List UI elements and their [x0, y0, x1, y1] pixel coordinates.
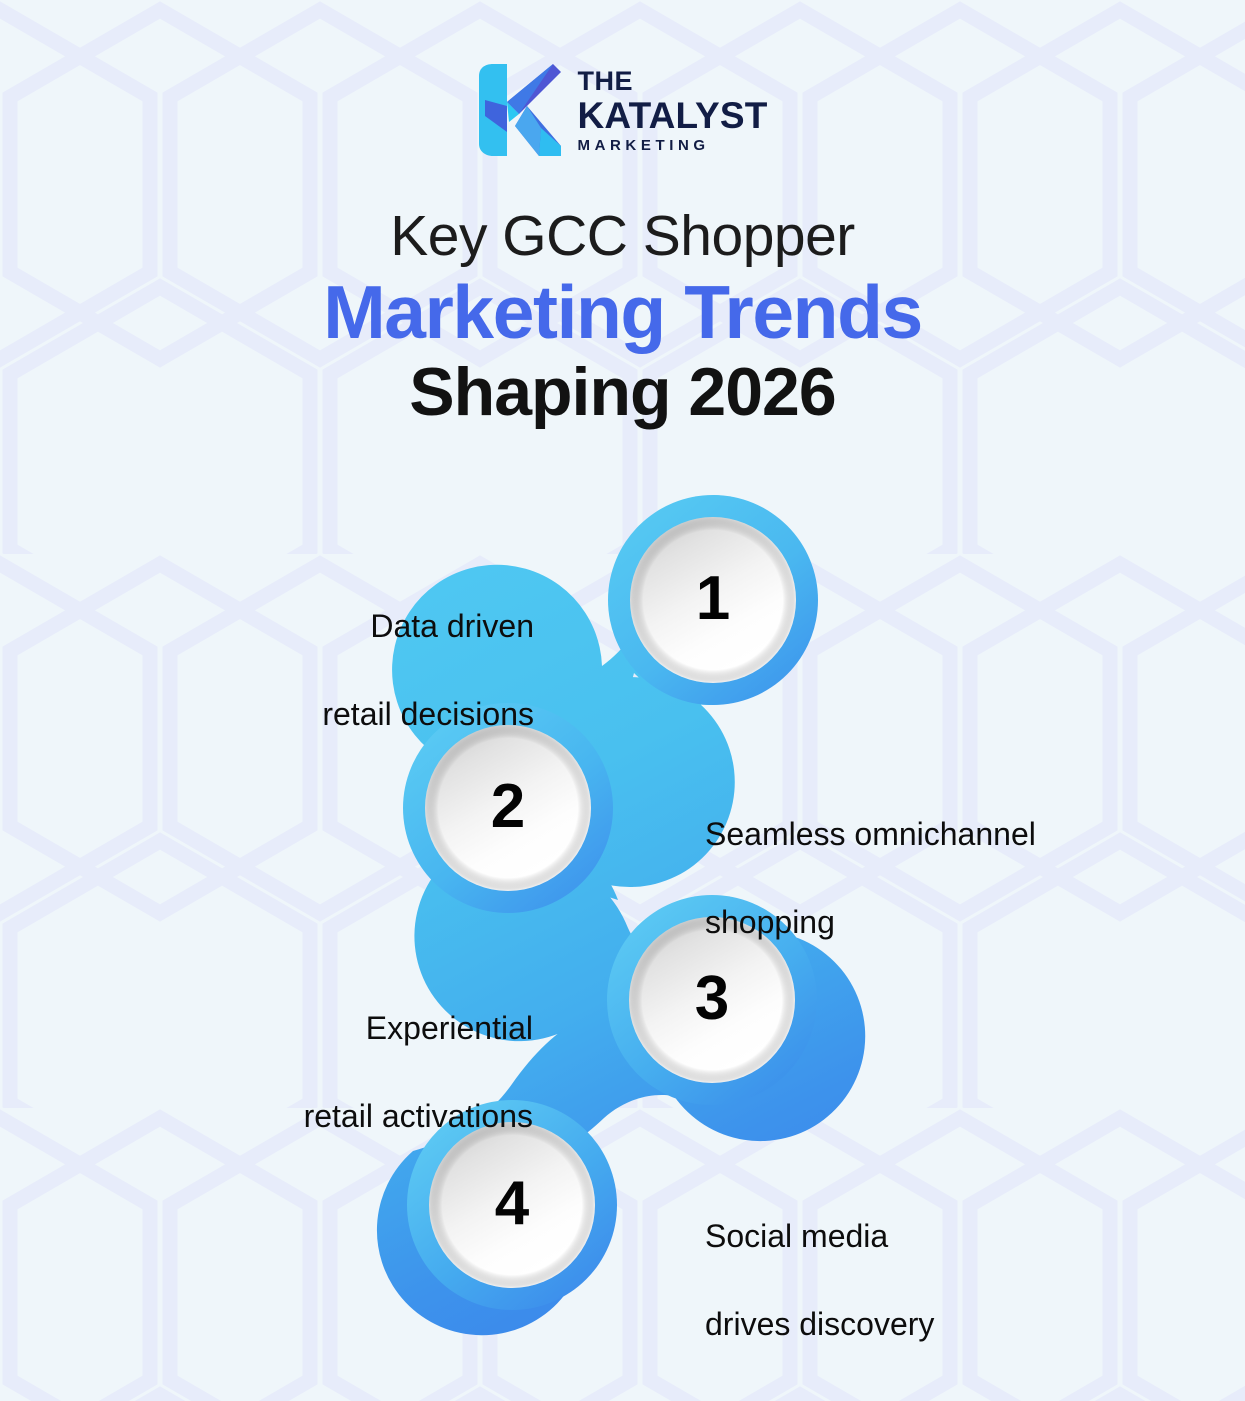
logo-line-katalyst: KATALYST [577, 97, 767, 134]
step-label-1-line-2: retail decisions [322, 692, 534, 736]
headline-line-3: Shaping 2026 [0, 354, 1245, 430]
brand-logo: THE KATALYST MARKETING [0, 62, 1245, 158]
step-label-3-line-1: Experiential [304, 1006, 533, 1050]
step-number-1: 1 [633, 568, 793, 630]
logo-line-the: THE [577, 68, 767, 95]
step-label-2-line-2: shopping [705, 900, 1036, 944]
step-label-2-line-1: Seamless omnichannel [705, 812, 1036, 856]
step-label-4: Social media drives discovery [705, 1170, 934, 1391]
step-label-1-line-1: Data driven [322, 604, 534, 648]
step-label-3-line-2: retail activations [304, 1094, 533, 1138]
step-number-2: 2 [428, 776, 588, 838]
katalyst-k-logo-icon [477, 62, 563, 158]
step-label-3: Experiential retail activations [304, 962, 533, 1183]
headline-line-1: Key GCC Shopper [0, 205, 1245, 269]
step-label-4-line-2: drives discovery [705, 1302, 934, 1346]
headline-line-2: Marketing Trends [0, 271, 1245, 354]
step-label-2: Seamless omnichannel shopping [705, 768, 1036, 989]
logo-line-marketing: MARKETING [577, 138, 767, 153]
step-label-4-line-1: Social media [705, 1214, 934, 1258]
page-title: Key GCC Shopper Marketing Trends Shaping… [0, 205, 1245, 430]
step-label-1: Data driven retail decisions [322, 560, 534, 781]
